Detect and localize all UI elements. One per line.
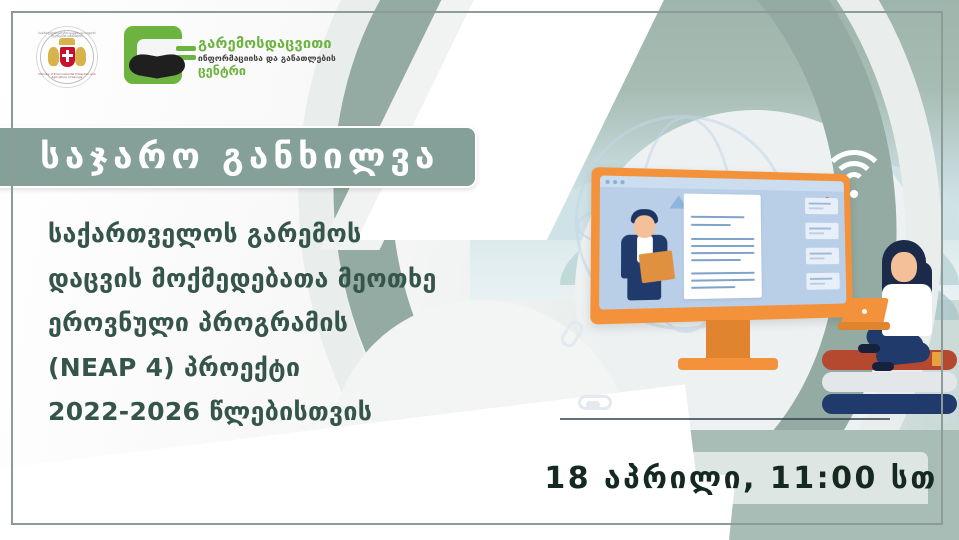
screen-content xyxy=(603,190,842,305)
wifi-signal-icon xyxy=(819,150,889,202)
seal-caption: Ministry of Environmental Protection and… xyxy=(37,73,97,81)
logo-row: საქართველოს გარემოს დაცვისა და სოფლის მე… xyxy=(36,26,336,88)
poster-canvas: საქართველოს გარემოს დაცვისა და სოფლის მე… xyxy=(0,0,959,540)
sidebar-card xyxy=(806,273,840,290)
body-line: ეროვნული პროგრამის xyxy=(48,301,478,346)
online-webinar-illustration xyxy=(560,150,959,460)
announcement-body: საქართველოს გარემოს დაცვის მოქმედებათა მ… xyxy=(48,212,478,435)
page-title: საჯარო განხილვა xyxy=(40,137,439,177)
woman-with-laptop-icon xyxy=(860,240,959,375)
window-dots-icon xyxy=(605,179,624,184)
body-line: საქართველოს გარემოს xyxy=(48,212,478,257)
monitor-base-icon xyxy=(678,358,778,370)
sidebar-card xyxy=(805,223,838,239)
body-line: დაცვის მოქმედებათა მეოთხე xyxy=(48,257,478,302)
body-line: (NEAP 4) პროექტი xyxy=(48,346,478,391)
event-datetime: 18 აპრილი, 11:00 სთ xyxy=(544,461,937,496)
event-date-banner: 18 აპრილი, 11:00 სთ xyxy=(554,452,928,504)
floor-line xyxy=(560,418,890,420)
eiec-line-2: ინფორმაციისა და განათლების xyxy=(198,54,336,63)
monitor-screen xyxy=(599,176,846,310)
georgia-coat-of-arms-seal-icon: საქართველოს გარემოს დაცვისა და სოფლის მე… xyxy=(36,26,98,88)
monitor-stand-icon xyxy=(706,320,750,362)
document-page-icon xyxy=(684,194,762,300)
eiec-wordmark: გარემოსდაცვითი ინფორმაციისა და განათლები… xyxy=(198,37,336,77)
eiec-line-3: ცენტრი xyxy=(198,64,336,78)
sidebar-card xyxy=(806,248,839,265)
body-line: 2022-2026 წლებისთვის xyxy=(48,390,478,435)
eiec-logo: გარემოსდაცვითი ინფორმაციისა და განათლები… xyxy=(124,26,336,88)
paperclip-icon xyxy=(558,318,586,350)
laptop-icon xyxy=(838,298,890,332)
eiec-line-1: გარემოსდაცვითი xyxy=(198,37,336,53)
headline-banner: საჯარო განხილვა xyxy=(0,126,477,188)
presenter-man-icon xyxy=(612,207,682,301)
open-book-green-square-logo-icon xyxy=(124,26,190,88)
eraser-icon xyxy=(578,395,612,410)
